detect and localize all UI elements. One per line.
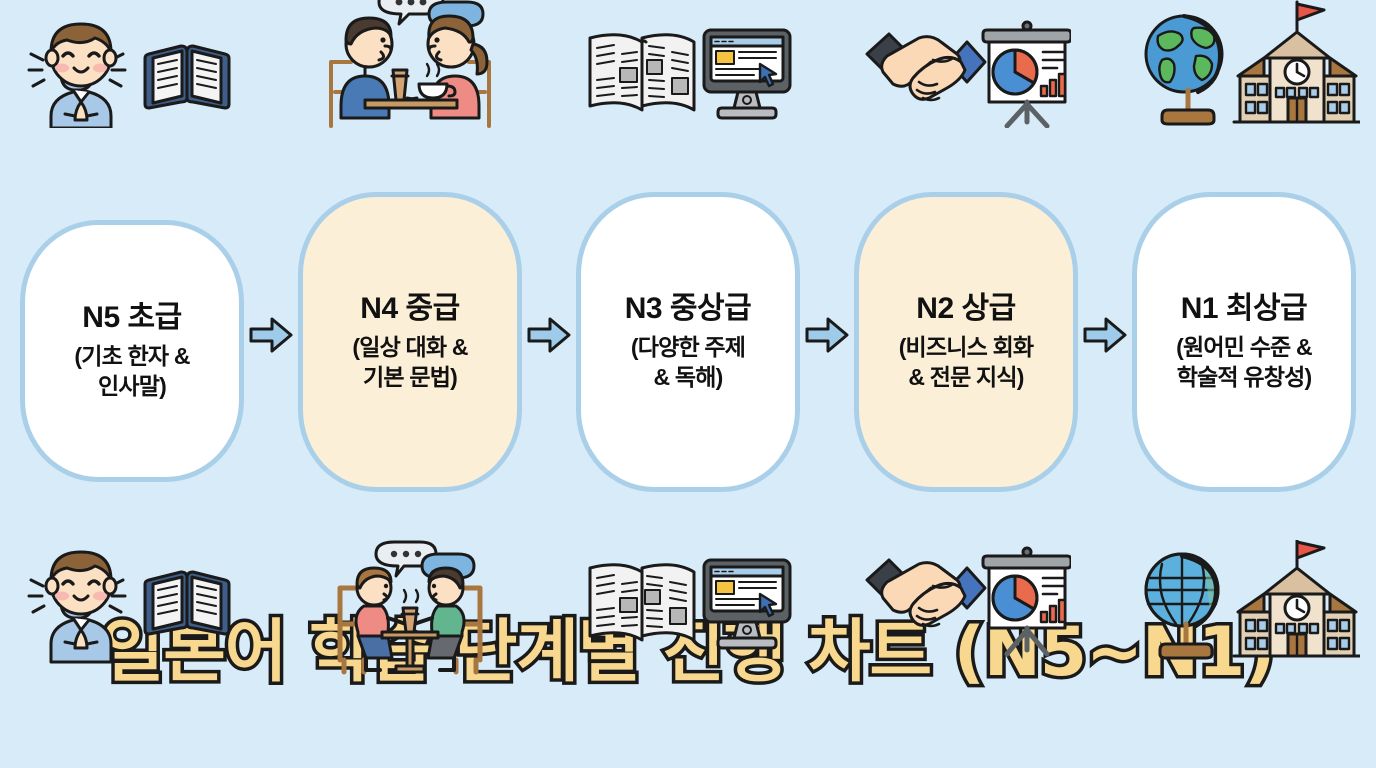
globe-and-school-icon: [1128, 0, 1360, 128]
arrow-right-icon: [526, 120, 572, 550]
step-title-n2: N2 상급: [916, 292, 1015, 325]
step-title-n3: N3 중상급: [625, 292, 752, 325]
step-card-n4[interactable]: N4 중급 (일상 대화 & 기본 문법): [298, 192, 522, 492]
greeting-boy-and-open-book-icon: [17, 8, 247, 128]
step-card-n3[interactable]: N3 중상급 (다양한 주제 & 독해): [576, 192, 800, 492]
step-subtitle-n1: (원어민 수준 & 학술적 유창성): [1176, 333, 1312, 392]
step-subtitle-n5: (기초 한자 & 인사말): [74, 342, 189, 401]
step-card-n1-wrapper: N1 최상급 (원어민 수준 & 학술적 유창성): [1128, 120, 1360, 550]
infographic-stage: N5 초급 (기초 한자 & 인사말): [0, 0, 1376, 768]
step-subtitle-n2: (비즈니스 회화 & 전문 지식): [899, 333, 1034, 392]
arrow-right-icon: [804, 120, 850, 550]
step-card-n5[interactable]: N5 초급 (기초 한자 & 인사말): [20, 220, 244, 482]
arrow-right-icon: [1082, 120, 1128, 550]
step-card-n2[interactable]: N2 상급 (비즈니스 회화 & 전문 지식): [854, 192, 1078, 492]
cafe-conversation-icon: [307, 0, 513, 128]
handshake-and-presentation-icon: [861, 8, 1071, 128]
step-title-n1: N1 최상급: [1181, 292, 1308, 325]
step-card-n3-wrapper: N3 중상급 (다양한 주제 & 독해): [572, 120, 804, 550]
newspaper-and-monitor-icon: [582, 10, 794, 128]
step-card-n1[interactable]: N1 최상급 (원어민 수준 & 학술적 유창성): [1132, 192, 1356, 492]
step-title-n4: N4 중급: [360, 292, 459, 325]
step-title-n5: N5 초급: [82, 301, 181, 334]
step-card-n5-wrapper: N5 초급 (기초 한자 & 인사말): [16, 120, 248, 550]
page-title: 일본어 학습 단계별 진행 차트 (N5~N1): [0, 596, 1376, 695]
step-card-n2-wrapper: N2 상급 (비즈니스 회화 & 전문 지식): [850, 120, 1082, 550]
step-subtitle-n4: (일상 대화 & 기본 문법): [352, 333, 467, 392]
level-flow: N5 초급 (기초 한자 & 인사말): [0, 120, 1376, 550]
step-card-n4-wrapper: N4 중급 (일상 대화 & 기본 문법): [294, 120, 526, 550]
step-subtitle-n3: (다양한 주제 & 독해): [631, 333, 745, 392]
arrow-right-icon: [248, 120, 294, 550]
